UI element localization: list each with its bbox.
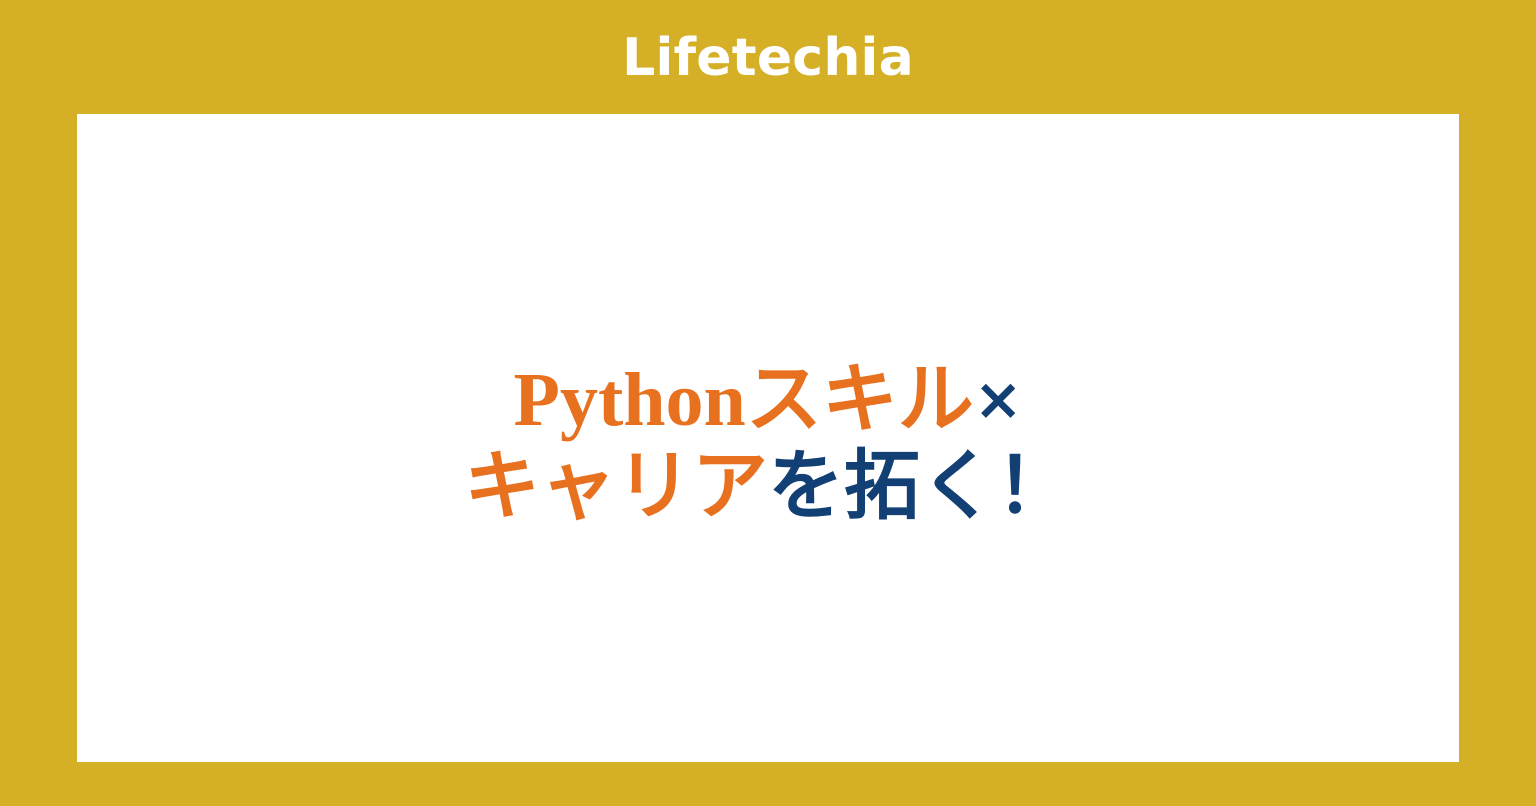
- site-title: Lifetechia: [622, 32, 914, 84]
- eyecatch-image: Lifetechia Pythonスキル× キャリアを拓く！: [0, 0, 1536, 806]
- headline-line-2: キャリアを拓く！: [464, 444, 1072, 531]
- headline-line-1: Pythonスキル×: [464, 357, 1072, 444]
- headline-cross-symbol: ×: [974, 365, 1023, 433]
- headline: Pythonスキル× キャリアを拓く！: [464, 357, 1072, 532]
- headline-line2-blue-text: を拓く！: [768, 445, 1072, 529]
- site-header: Lifetechia: [0, 0, 1536, 114]
- headline-line1-orange-text: Pythonスキル: [514, 358, 974, 442]
- headline-line2-orange-text: キャリア: [464, 445, 768, 529]
- content-card: Pythonスキル× キャリアを拓く！: [77, 114, 1459, 762]
